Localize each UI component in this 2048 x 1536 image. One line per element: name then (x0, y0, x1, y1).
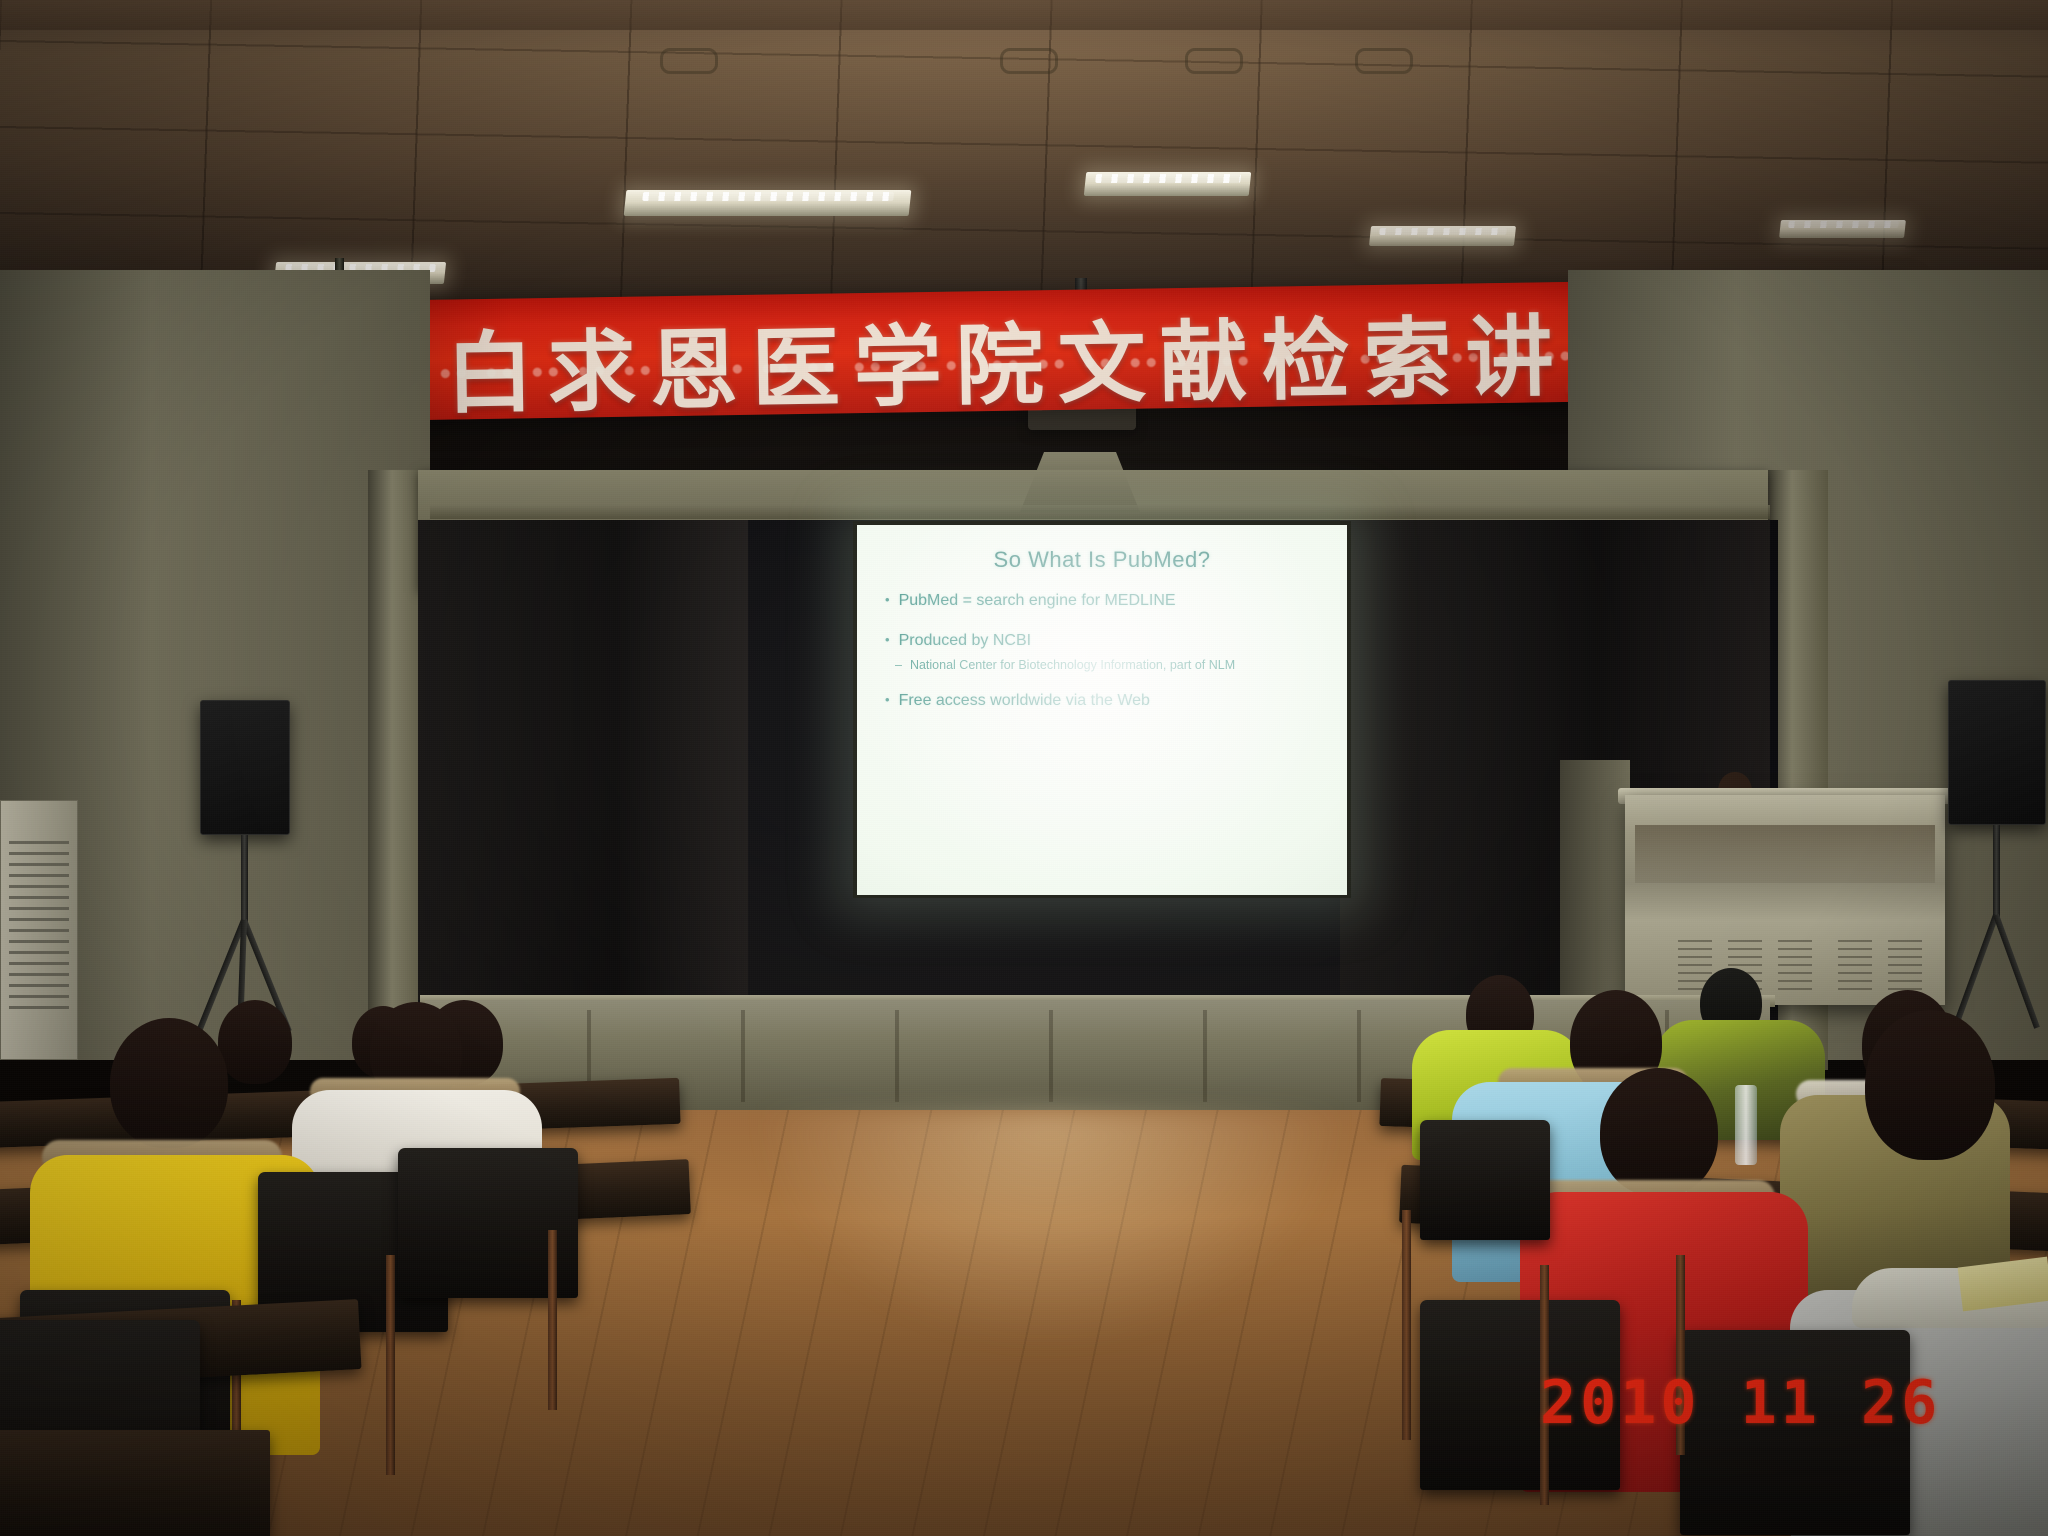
chair-leg (548, 1230, 557, 1410)
loudspeaker-left (200, 700, 290, 835)
bullet-marker-icon: • (885, 631, 890, 651)
podium-vent (1778, 940, 1812, 992)
audience-head (110, 1018, 228, 1148)
slide-bullet: • PubMed = search engine for MEDLINE (885, 591, 1331, 611)
slide-sub-bullet: – National Center for Biotechnology Info… (895, 658, 1331, 673)
chair-leg (386, 1255, 395, 1475)
apron-motif (1000, 48, 1058, 74)
fluorescent-light-icon (1369, 226, 1516, 246)
fluorescent-light-icon (1779, 220, 1906, 238)
chair-leg (1402, 1210, 1411, 1440)
slide-bullet-group: • Produced by NCBI – National Center for… (885, 631, 1331, 673)
chair (1420, 1120, 1550, 1240)
floor-light-reflection (700, 1110, 1400, 1536)
bullet-marker-icon: • (885, 691, 890, 711)
camera-datestamp: 2010 11 26 (1540, 1368, 1941, 1438)
sub-bullet-marker-icon: – (895, 658, 902, 673)
slide-bullet-text: PubMed = search engine for MEDLINE (899, 591, 1176, 611)
audience-head (1600, 1068, 1718, 1196)
podium-vent (1838, 940, 1872, 992)
speaker-stand-pole-right (1993, 825, 2000, 920)
stage-valance-rail (430, 505, 1770, 519)
desk-row (0, 1430, 270, 1536)
stage-curtain-left (418, 520, 748, 1000)
audience-head (218, 1000, 292, 1084)
slide-content: So What Is PubMed? • PubMed = search eng… (857, 525, 1347, 895)
slide-title: So What Is PubMed? (873, 547, 1331, 573)
audience-head (1865, 1010, 1995, 1160)
slide-bullet-text: Produced by NCBI (899, 631, 1032, 651)
ceiling-vignette (0, 0, 2048, 300)
water-bottle (1735, 1085, 1757, 1165)
ceiling-beam (0, 0, 2048, 30)
apron-motif (660, 48, 718, 74)
air-conditioner-unit (0, 800, 78, 1060)
speaker-stand-pole-left (241, 835, 248, 925)
slide-sub-bullet-text: National Center for Biotechnology Inform… (910, 658, 1235, 673)
apron-motif (1185, 48, 1243, 74)
photo-scene: 白求恩医学院文献检索讲座 So What Is PubMed? • PubMed… (0, 0, 2048, 1536)
proscenium-ornament (1020, 452, 1140, 512)
ceiling (0, 0, 2048, 300)
podium-shadow-band (1635, 825, 1935, 883)
slide-bullet-list: • PubMed = search engine for MEDLINE • P… (873, 591, 1331, 711)
fluorescent-light-icon (1084, 172, 1252, 196)
loudspeaker-right (1948, 680, 2046, 825)
slide-bullet: • Produced by NCBI (885, 631, 1331, 651)
ac-vent-grille (9, 841, 69, 1011)
slide-bullet-text: Free access worldwide via the Web (899, 691, 1150, 711)
slide-bullet: • Free access worldwide via the Web (885, 691, 1331, 711)
podium-vent (1888, 940, 1922, 992)
fluorescent-light-icon (624, 190, 912, 216)
projection-screen: So What Is PubMed? • PubMed = search eng… (857, 525, 1347, 895)
apron-motif (1355, 48, 1413, 74)
bullet-marker-icon: • (885, 591, 890, 611)
